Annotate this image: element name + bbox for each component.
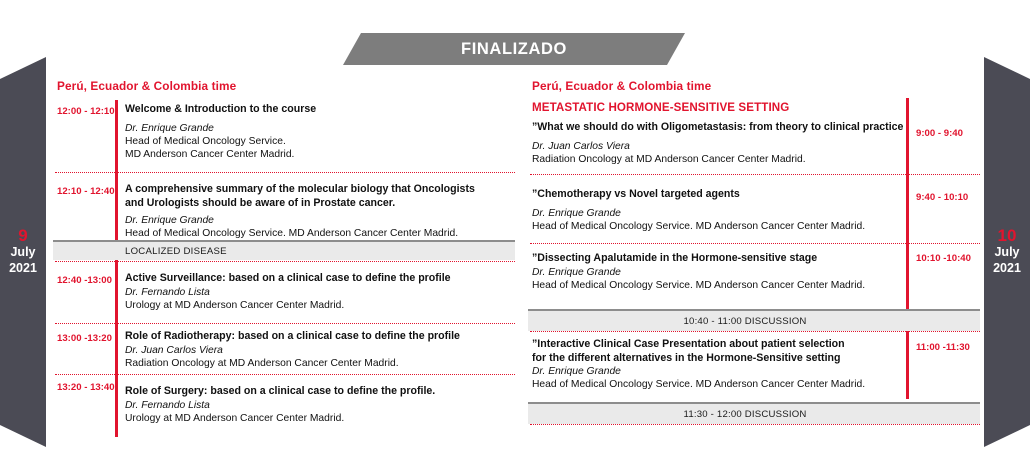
session-speaker: Dr. Enrique Grande [532, 365, 904, 378]
session-affiliation: Urology at MD Anderson Cancer Center Mad… [125, 412, 515, 425]
session-affiliation: Radiation Oncology at MD Anderson Cancer… [532, 153, 904, 166]
session-time: 9:00 - 9:40 [916, 128, 963, 139]
session-divider [55, 172, 515, 173]
session-row: ”Interactive Clinical Case Presentation … [532, 338, 904, 392]
session-speaker: Dr. Enrique Grande [532, 207, 904, 220]
section-band-localized-disease: LOCALIZED DISEASE [53, 240, 515, 260]
session-title: ”What we should do with Oligometastasis:… [532, 121, 904, 135]
session-title: for the different alternatives in the Ho… [532, 352, 904, 366]
discussion-band: 11:30 - 12:00 DISCUSSION [528, 402, 980, 424]
discussion-band: 10:40 - 11:00 DISCUSSION [528, 309, 980, 331]
session-speaker: Dr. Fernando Lista [125, 286, 515, 299]
session-affiliation: Head of Medical Oncology Service. MD And… [532, 378, 904, 391]
session-affiliation: Head of Medical Oncology Service. MD And… [532, 220, 904, 233]
session-divider [530, 424, 980, 425]
session-divider [530, 243, 980, 244]
session-divider [530, 174, 980, 175]
session-title: Role of Surgery: based on a clinical cas… [125, 385, 515, 399]
timezone-heading-day-one: Perú, Ecuador & Colombia time [57, 79, 236, 93]
session-row: ”What we should do with Oligometastasis:… [532, 121, 904, 166]
session-speaker: Dr. Juan Carlos Viera [125, 344, 515, 357]
status-banner: FINALIZADO [343, 33, 685, 65]
session-row: Active Surveillance: based on a clinical… [125, 272, 515, 312]
session-row: ”Chemotherapy vs Novel targeted agents D… [532, 188, 904, 233]
discussion-band-label: 10:40 - 11:00 DISCUSSION [528, 316, 980, 327]
session-time: 9:40 - 10:10 [916, 192, 968, 203]
date-tab-month: July [994, 245, 1019, 261]
session-divider [530, 331, 980, 332]
session-speaker: Dr. Juan Carlos Viera [532, 140, 904, 153]
session-speaker: Dr. Enrique Grande [532, 266, 904, 279]
session-speaker: Dr. Fernando Lista [125, 399, 515, 412]
date-tab-day-one: 9 July 2021 [0, 57, 46, 447]
section-band-label: LOCALIZED DISEASE [125, 246, 227, 257]
session-time: 10:10 -10:40 [916, 253, 971, 264]
session-title: ”Dissecting Apalutamide in the Hormone-s… [532, 252, 904, 266]
date-tab-day: 10 [998, 227, 1017, 245]
session-divider [55, 323, 515, 324]
status-banner-label: FINALIZADO [461, 40, 567, 59]
session-title: ”Chemotherapy vs Novel targeted agents [532, 188, 904, 202]
section-heading-metastatic: METASTATIC HORMONE-SENSITIVE SETTING [532, 101, 789, 114]
session-affiliation: Radiation Oncology at MD Anderson Cancer… [125, 357, 515, 370]
date-tab-day: 9 [18, 227, 27, 245]
discussion-band-label: 11:30 - 12:00 DISCUSSION [528, 409, 980, 420]
session-speaker: Dr. Enrique Grande [125, 122, 515, 135]
session-row: Role of Radiotherapy: based on a clinica… [125, 330, 515, 370]
session-title: Active Surveillance: based on a clinical… [125, 272, 515, 286]
session-affiliation: Urology at MD Anderson Cancer Center Mad… [125, 299, 515, 312]
session-time: 11:00 -11:30 [916, 342, 970, 353]
session-title: Welcome & Introduction to the course [125, 103, 515, 117]
timeline-rail-day-two [906, 98, 909, 399]
session-affiliation: Head of Medical Oncology Service. MD And… [532, 279, 904, 292]
agenda-poster: FINALIZADO 9 July 2021 10 July 2021 Perú… [0, 0, 1030, 450]
date-tab-month: July [10, 245, 35, 261]
session-affiliation: MD Anderson Cancer Center Madrid. [125, 148, 515, 161]
session-row: ”Dissecting Apalutamide in the Hormone-s… [532, 252, 904, 292]
session-speaker: Dr. Enrique Grande [125, 214, 515, 227]
session-affiliation: Head of Medical Oncology Service. [125, 135, 515, 148]
session-title: ”Interactive Clinical Case Presentation … [532, 338, 904, 352]
session-row: A comprehensive summary of the molecular… [125, 183, 515, 241]
session-title: Role of Radiotherapy: based on a clinica… [125, 330, 515, 344]
session-row: Role of Surgery: based on a clinical cas… [125, 385, 515, 425]
session-title: A comprehensive summary of the molecular… [125, 183, 515, 197]
session-affiliation: Head of Medical Oncology Service. MD And… [125, 227, 515, 240]
session-divider [55, 261, 515, 262]
session-divider [55, 374, 515, 375]
timezone-heading-day-two: Perú, Ecuador & Colombia time [532, 79, 711, 93]
date-tab-year: 2021 [9, 261, 37, 277]
session-title: and Urologists should be aware of in Pro… [125, 197, 515, 211]
session-row: Welcome & Introduction to the course Dr.… [125, 103, 515, 162]
